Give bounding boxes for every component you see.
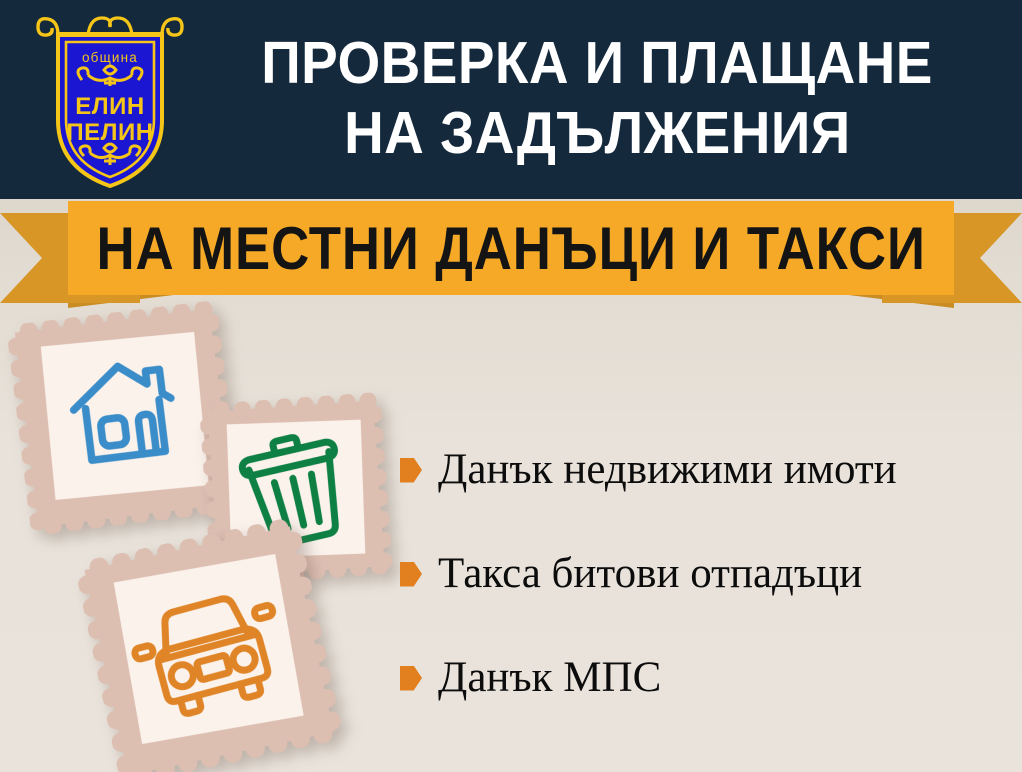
crest-name-line-2: ПЕЛИН: [66, 119, 153, 146]
stamp-vehicle: [74, 516, 344, 772]
service-label: Данък недвижими имоти: [438, 447, 897, 492]
crest-name-line-1: ЕЛИН: [75, 93, 144, 120]
poster-title: ПРОВЕРКА И ПЛАЩАНЕ НА ЗАДЪЛЖЕНИЯ: [190, 14, 1005, 184]
ribbon-panel: НА МЕСТНИ ДАНЪЦИ И ТАКСИ: [68, 201, 954, 295]
bullet-arrow-icon: [400, 458, 422, 483]
bullet-arrow-icon: [400, 666, 422, 691]
service-label: Такса битови отпадъци: [438, 551, 862, 596]
list-item[interactable]: Данък недвижими имоти: [400, 418, 1010, 522]
poster-title-line-1: ПРОВЕРКА И ПЛАЩАНЕ: [262, 29, 934, 99]
service-label: Данък МПС: [438, 655, 661, 700]
poster-title-line-2: НА ЗАДЪЛЖЕНИЯ: [344, 99, 851, 169]
ribbon-subtitle-text: НА МЕСТНИ ДАНЪЦИ И ТАКСИ: [96, 214, 925, 283]
bullet-arrow-icon: [400, 562, 422, 587]
services-list: Данък недвижими имоти Такса битови отпад…: [400, 418, 1010, 730]
municipality-crest-logo: община ЕЛИН ПЕЛИН: [34, 8, 186, 190]
subtitle-ribbon: НА МЕСТНИ ДАНЪЦИ И ТАКСИ: [0, 196, 1022, 311]
crest-top-label: община: [82, 50, 138, 65]
list-item[interactable]: Такса битови отпадъци: [400, 522, 1010, 626]
list-item[interactable]: Данък МПС: [400, 626, 1010, 730]
poster-root: община ЕЛИН ПЕЛИН: [0, 0, 1022, 772]
